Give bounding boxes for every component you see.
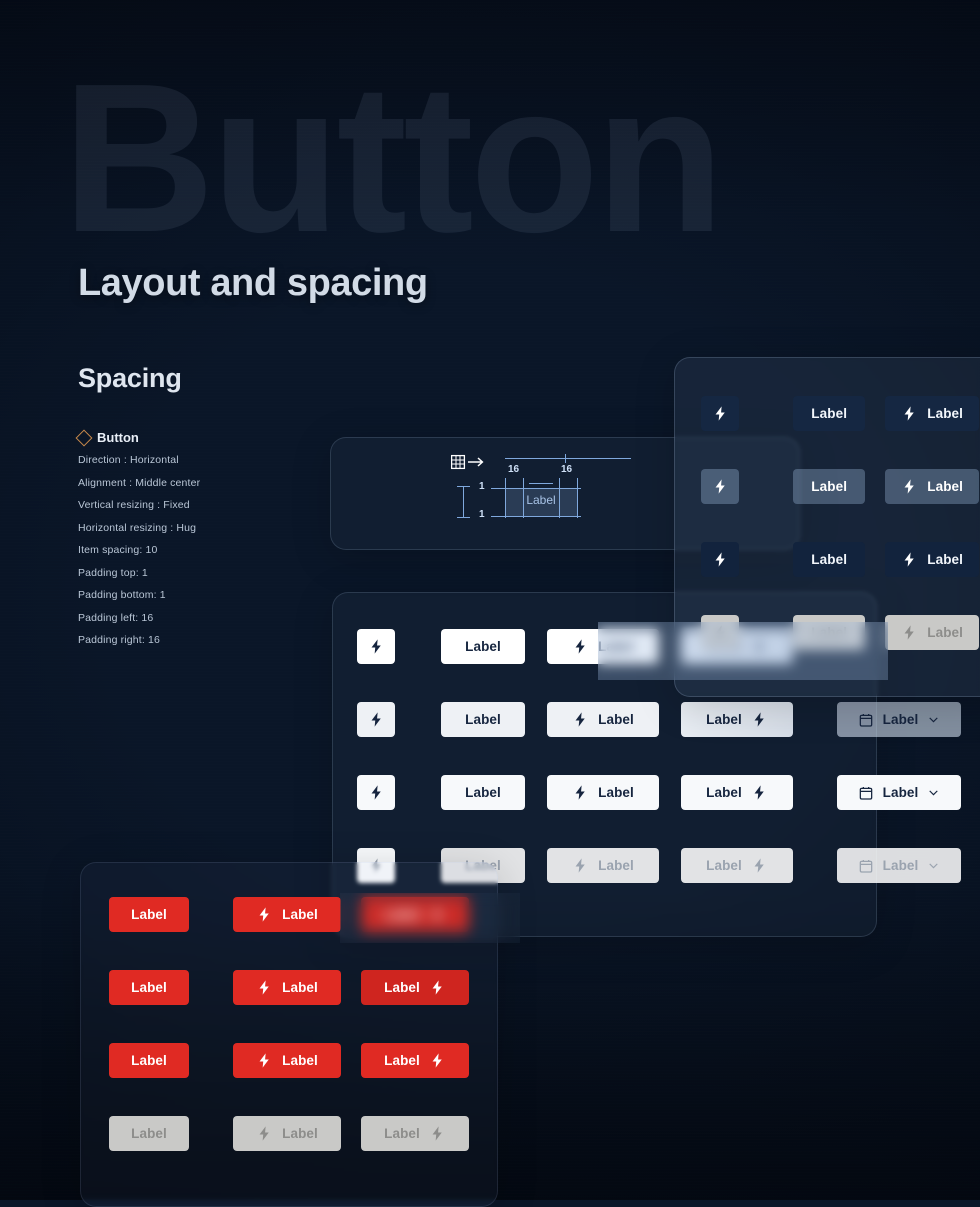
spec-row: Padding left: 16 — [78, 612, 318, 624]
measurement-diagram: 16 16 1 1 Label — [451, 450, 701, 540]
padding-top-value: 1 — [479, 481, 485, 492]
padding-right-value: 16 — [561, 464, 572, 475]
button-label: Label — [927, 552, 963, 567]
button-label-only[interactable]: Label — [793, 542, 865, 577]
watermark-title: Button — [62, 52, 721, 264]
padding-bottom-value: 1 — [479, 509, 485, 520]
height-bracket-top — [457, 486, 470, 487]
button-label-only[interactable]: Label — [109, 897, 189, 932]
pad-bottom-line — [491, 516, 581, 517]
button-label: Label — [706, 785, 742, 800]
button-label-only-disabled: Label — [793, 615, 865, 650]
button-label: Label — [282, 907, 318, 922]
red-button-panel: Label Label Label Label Label Label Labe… — [80, 862, 498, 1207]
button-label: Label — [883, 858, 919, 873]
pad-right-tick — [577, 478, 578, 518]
button-icon-label[interactable]: Label — [885, 396, 979, 431]
spec-row: Padding right: 16 — [78, 634, 318, 646]
spec-row: Padding top: 1 — [78, 567, 318, 579]
button-icon-only[interactable] — [357, 702, 395, 737]
button-label: Label — [465, 639, 501, 654]
button-icon-only-disabled — [701, 615, 739, 650]
auto-layout-horizontal-icon — [451, 454, 485, 475]
chevron-down-icon — [927, 786, 940, 799]
button-label: Label — [598, 785, 634, 800]
spec-row: Horizontal resizing : Hug — [78, 522, 318, 534]
button-calendar-dropdown[interactable]: Label — [837, 702, 961, 737]
width-arrow-line — [505, 458, 631, 459]
button-calendar-dropdown[interactable]: Label — [837, 775, 961, 810]
spacing-spec-list: Button Direction : Horizontal Alignment … — [78, 430, 318, 657]
button-label: Label — [706, 712, 742, 727]
height-bracket-stem — [463, 486, 464, 518]
button-label: Label — [706, 858, 742, 873]
button-icon-label[interactable]: Label — [547, 702, 659, 737]
spec-header: Button — [78, 430, 318, 445]
button-icon-only[interactable] — [357, 775, 395, 810]
content-arrow — [529, 483, 553, 484]
button-icon-only[interactable] — [701, 469, 739, 504]
chevron-down-icon — [927, 859, 940, 872]
navy-button-grid: Label Label Label Label Label Label Labe… — [701, 396, 979, 650]
button-icon-only[interactable] — [357, 629, 395, 664]
button-label-only-disabled: Label — [109, 1116, 189, 1151]
button-icon-label[interactable]: Label — [233, 970, 341, 1005]
navy-button-panel: Label Label Label Label Label Label Labe… — [674, 357, 980, 697]
diagram-label-text: Label — [511, 493, 571, 507]
button-label: Label — [598, 712, 634, 727]
button-icon-label-disabled: Label — [233, 1116, 341, 1151]
spec-row: Item spacing: 10 — [78, 544, 318, 556]
button-label: Label — [465, 785, 501, 800]
button-label: Label — [811, 552, 847, 567]
button-label: Label — [384, 980, 420, 995]
button-icon-label[interactable]: Label — [885, 542, 979, 577]
spec-title: Button — [97, 430, 139, 445]
button-label: Label — [131, 980, 167, 995]
button-label: Label — [131, 907, 167, 922]
button-label: Label — [927, 625, 963, 640]
button-label: Label — [384, 1053, 420, 1068]
button-label: Label — [811, 406, 847, 421]
calendar-icon — [858, 858, 874, 874]
button-label: Label — [811, 625, 847, 640]
button-label: Label — [131, 1126, 167, 1141]
chevron-down-icon — [927, 713, 940, 726]
button-label: Label — [282, 980, 318, 995]
button-icon-only[interactable] — [701, 396, 739, 431]
padding-left-value: 16 — [508, 464, 519, 475]
diamond-icon — [76, 429, 93, 446]
button-label: Label — [465, 712, 501, 727]
red-button-grid: Label Label Label Label Label Label Labe… — [109, 897, 469, 1151]
calendar-icon — [858, 712, 874, 728]
page-title: Layout and spacing — [78, 262, 428, 305]
calendar-icon — [858, 785, 874, 801]
button-label-only[interactable]: Label — [793, 396, 865, 431]
button-label-icon[interactable]: Label — [681, 775, 793, 810]
button-label-icon[interactable]: Label — [361, 1043, 469, 1078]
button-label: Label — [927, 479, 963, 494]
button-label-only[interactable]: Label — [793, 469, 865, 504]
button-icon-label[interactable]: Label — [547, 629, 659, 664]
width-arrow-tick — [565, 454, 566, 463]
button-label-only[interactable]: Label — [109, 970, 189, 1005]
button-label: Label — [282, 1053, 318, 1068]
button-icon-label[interactable]: Label — [233, 1043, 341, 1078]
button-label-icon[interactable]: Label — [681, 702, 793, 737]
button-label: Label — [883, 785, 919, 800]
height-bracket-bot — [457, 517, 470, 518]
button-calendar-dropdown-disabled: Label — [837, 848, 961, 883]
button-label: Label — [811, 479, 847, 494]
button-label-icon[interactable]: Label — [361, 897, 469, 932]
button-label-icon-disabled: Label — [681, 848, 793, 883]
button-icon-label[interactable]: Label — [547, 775, 659, 810]
button-label-icon[interactable]: Label — [361, 970, 469, 1005]
button-icon-only[interactable] — [701, 542, 739, 577]
button-label-only[interactable]: Label — [109, 1043, 189, 1078]
button-label: Label — [384, 1126, 420, 1141]
button-label: Label — [883, 712, 919, 727]
button-label: Label — [384, 907, 420, 922]
spec-row: Alignment : Middle center — [78, 477, 318, 489]
button-label-icon-disabled: Label — [361, 1116, 469, 1151]
button-label-only[interactable]: Label — [441, 629, 525, 664]
button-icon-label-disabled: Label — [547, 848, 659, 883]
button-label: Label — [927, 406, 963, 421]
button-label: Label — [598, 858, 634, 873]
button-label: Label — [131, 1053, 167, 1068]
button-icon-label[interactable]: Label — [885, 469, 979, 504]
section-title: Spacing — [78, 363, 182, 394]
button-label: Label — [282, 1126, 318, 1141]
spec-row: Padding bottom: 1 — [78, 589, 318, 601]
button-icon-label[interactable]: Label — [233, 897, 341, 932]
button-label-only[interactable]: Label — [441, 702, 525, 737]
button-label: Label — [598, 639, 634, 654]
spec-row: Direction : Horizontal — [78, 454, 318, 466]
button-label-only[interactable]: Label — [441, 775, 525, 810]
spec-row: Vertical resizing : Fixed — [78, 499, 318, 511]
button-icon-label-disabled: Label — [885, 615, 979, 650]
